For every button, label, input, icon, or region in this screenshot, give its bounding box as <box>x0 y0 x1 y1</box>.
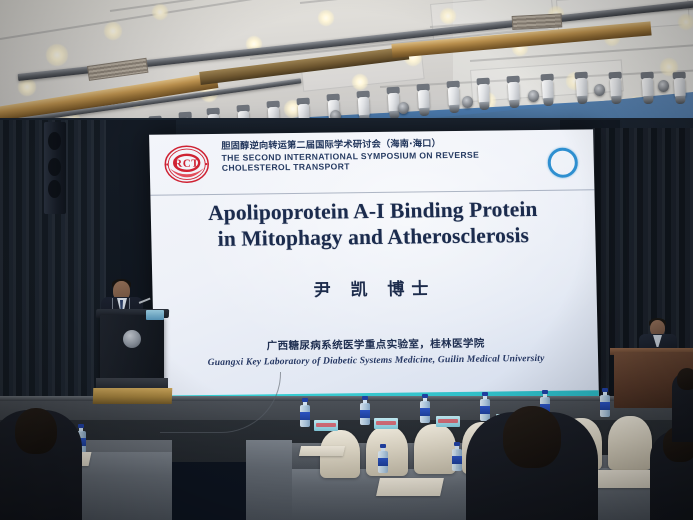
table-drape-panel <box>246 440 292 520</box>
moving-head-light-14 <box>476 78 491 112</box>
water-bottle-0 <box>300 398 310 428</box>
water-bottle-1 <box>360 396 370 426</box>
presentation-slide: RCT 胆固醇逆向转运第二届国际学术研讨会（海南·海口） THE SECOND … <box>149 129 599 402</box>
conference-hall-photo: RCT 胆固醇逆向转运第二届国际学术研讨会（海南·海口） THE SECOND … <box>0 0 693 520</box>
ceiling-downlight-8 <box>318 10 334 26</box>
audience-member-center-head <box>503 406 561 468</box>
moving-head-light-12 <box>416 84 431 118</box>
slide-header: RCT 胆固醇逆向转运第二届国际学术研讨会（海南·海口） THE SECOND … <box>149 129 594 196</box>
slide-affiliation-cn: 广西糖尿病系统医学重点实验室，桂林医学院 <box>154 334 598 354</box>
header-divider <box>150 189 594 195</box>
ceiling-downlight-11 <box>440 8 456 24</box>
speaker-podium <box>100 315 164 381</box>
name-tent-card-0 <box>314 420 338 431</box>
ceiling-downlight-2 <box>152 4 168 20</box>
water-bottle-5 <box>600 388 610 418</box>
slide-header-text: 胆固醇逆向转运第二届国际学术研讨会（海南·海口） THE SECOND INTE… <box>221 138 522 173</box>
par-can-light-8 <box>594 84 605 96</box>
par-can-light-9 <box>658 80 669 92</box>
par-can-light-7 <box>528 90 539 102</box>
moving-head-light-20 <box>672 72 687 106</box>
audience-member-right <box>650 430 693 520</box>
moving-head-light-18 <box>608 72 623 106</box>
slide-speaker-name: 尹 凯 博士 <box>152 272 597 302</box>
audience-member-far-right <box>672 372 693 442</box>
audience-member-left-head <box>15 408 57 454</box>
audience-chair-2 <box>414 424 456 474</box>
audience-member-left <box>0 410 82 520</box>
rct-seal-logo: RCT <box>163 141 210 188</box>
audience-member-far-right-head <box>677 368 693 390</box>
line-array-speaker <box>44 122 66 214</box>
ceiling-downlight-1 <box>104 22 122 40</box>
notepad-3 <box>299 446 345 456</box>
slide-title-line-2: in Mitophagy and Atherosclerosis <box>151 222 596 254</box>
moving-head-light-13 <box>446 81 461 115</box>
ceiling-downlight-9 <box>352 74 368 90</box>
podium-confidence-monitor <box>146 310 164 320</box>
moving-head-light-16 <box>540 74 555 108</box>
svg-text:RCT: RCT <box>174 158 199 170</box>
water-bottle-7 <box>452 442 462 472</box>
audience-member-center <box>466 412 598 520</box>
water-bottle-3 <box>480 392 490 422</box>
name-tent-card-1 <box>374 418 398 429</box>
slide-title: Apolipoprotein A-I Binding Protein in Mi… <box>151 195 596 253</box>
podium-emblem <box>123 330 141 348</box>
ceiling-downlight-19 <box>678 14 693 30</box>
notepad-1 <box>376 478 444 496</box>
blue-ring-logo <box>547 148 578 178</box>
projection-screen: RCT 胆固醇逆向转运第二届国际学术研讨会（海南·海口） THE SECOND … <box>149 129 599 402</box>
name-tent-card-2 <box>436 416 460 427</box>
moving-head-light-17 <box>574 72 589 106</box>
audience-chair-6 <box>608 416 652 470</box>
moving-head-light-15 <box>506 76 521 110</box>
ceiling-downlight-0 <box>46 44 68 66</box>
slide-affiliation-en: Guangxi Key Laboratory of Diabetic Syste… <box>154 352 598 368</box>
water-bottle-2 <box>420 394 430 424</box>
moving-head-light-19 <box>640 72 655 106</box>
water-bottle-6 <box>378 444 388 474</box>
par-can-light-6 <box>462 96 473 108</box>
par-can-light-5 <box>398 102 409 114</box>
ceiling-vent-far-right <box>512 13 563 30</box>
